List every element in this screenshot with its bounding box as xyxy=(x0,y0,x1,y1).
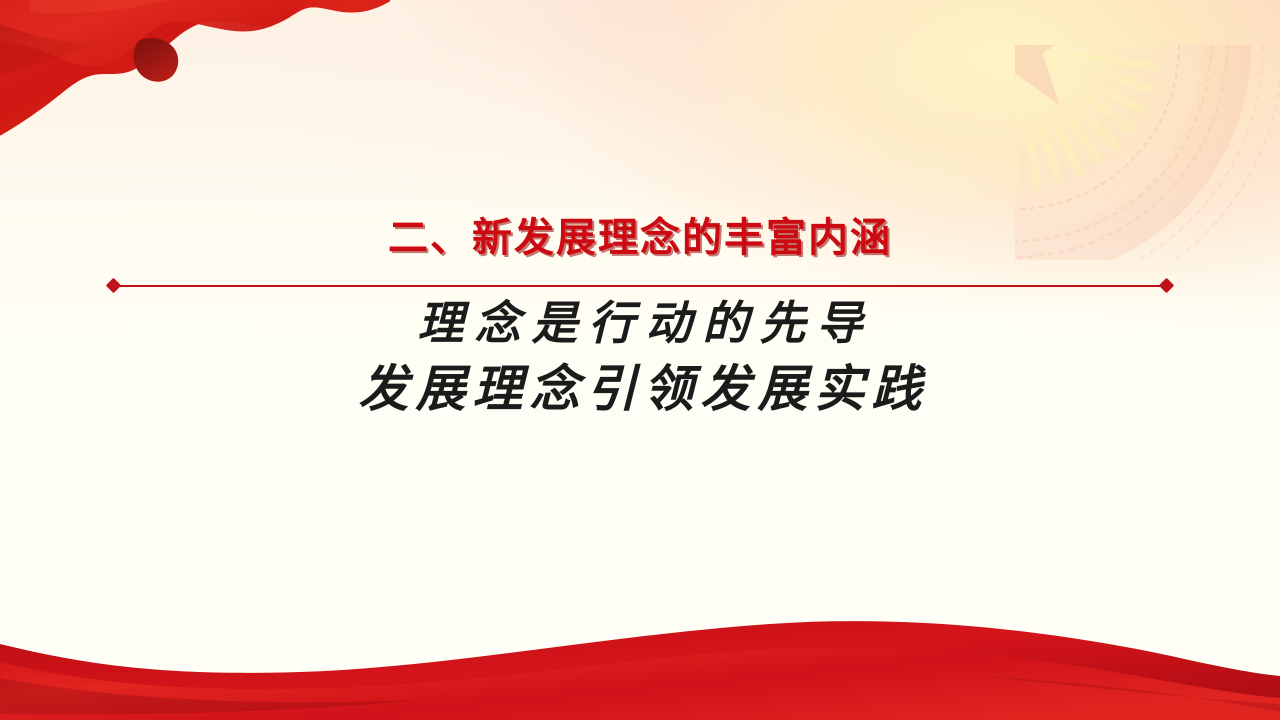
body-line-1: 理念是行动的先导 xyxy=(0,300,1280,347)
body-text: 理念是行动的先导 发展理念引领发展实践 xyxy=(0,300,1280,414)
slide: 二、新发展理念的丰富内涵 理念是行动的先导 发展理念引领发展实践 xyxy=(0,0,1280,720)
divider xyxy=(108,278,1172,293)
red-flag-decoration xyxy=(0,0,390,198)
flag-crease xyxy=(134,38,179,82)
body-line-2: 发展理念引领发展实践 xyxy=(0,363,1280,414)
divider-rule xyxy=(114,285,1166,287)
red-wave-decoration xyxy=(0,600,1280,720)
page-title: 二、新发展理念的丰富内涵 xyxy=(0,205,1280,263)
divider-right-diamond-icon xyxy=(1159,278,1175,294)
